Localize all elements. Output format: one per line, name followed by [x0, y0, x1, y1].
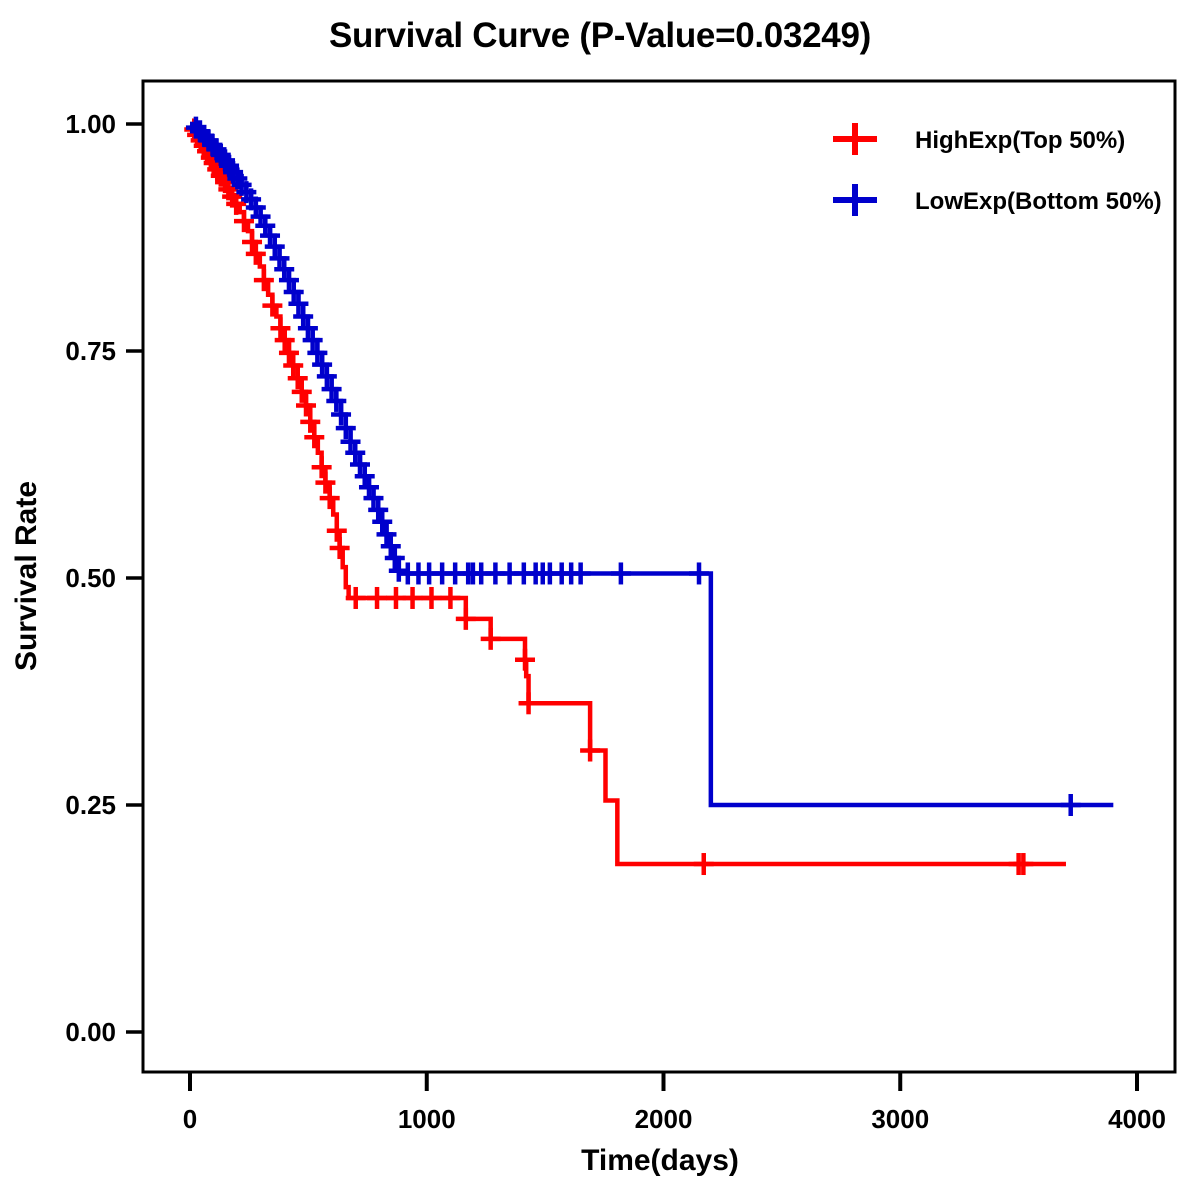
y-tick-label: 1.00	[65, 109, 116, 139]
survival-plot: 0.000.250.500.751.00 01000200030004000 T…	[0, 0, 1200, 1200]
series-layer	[184, 117, 1113, 875]
y-axis-ticks: 0.000.250.500.751.00	[65, 109, 143, 1047]
plot-frame	[143, 81, 1175, 1072]
x-tick-label: 3000	[871, 1104, 929, 1134]
step-line	[190, 124, 1113, 805]
x-tick-label: 1000	[398, 1104, 456, 1134]
legend-label: HighExp(Top 50%)	[915, 127, 1125, 154]
y-axis-title: Survival Rate	[10, 481, 43, 671]
censor-marks	[184, 118, 1033, 875]
x-axis-ticks: 01000200030004000	[183, 1072, 1166, 1134]
x-tick-label: 4000	[1108, 1104, 1166, 1134]
survival-chart-page: Survival Curve (P-Value=0.03249) 0.000.2…	[0, 0, 1200, 1200]
legend-item[interactable]: HighExp(Top 50%)	[833, 123, 1125, 155]
x-tick-label: 0	[183, 1104, 197, 1134]
legend-label: LowExp(Bottom 50%)	[915, 188, 1162, 215]
series-highexp-top-50-	[184, 118, 1066, 875]
step-line	[190, 124, 1066, 864]
x-tick-label: 2000	[635, 1104, 693, 1134]
y-tick-label: 0.75	[65, 336, 116, 366]
x-axis-title: Time(days)	[581, 1144, 739, 1177]
y-tick-label: 0.50	[65, 563, 116, 593]
y-tick-label: 0.25	[65, 790, 116, 820]
legend: HighExp(Top 50%)LowExp(Bottom 50%)	[833, 123, 1162, 216]
y-tick-label: 0.00	[65, 1017, 116, 1047]
legend-item[interactable]: LowExp(Bottom 50%)	[833, 184, 1162, 216]
